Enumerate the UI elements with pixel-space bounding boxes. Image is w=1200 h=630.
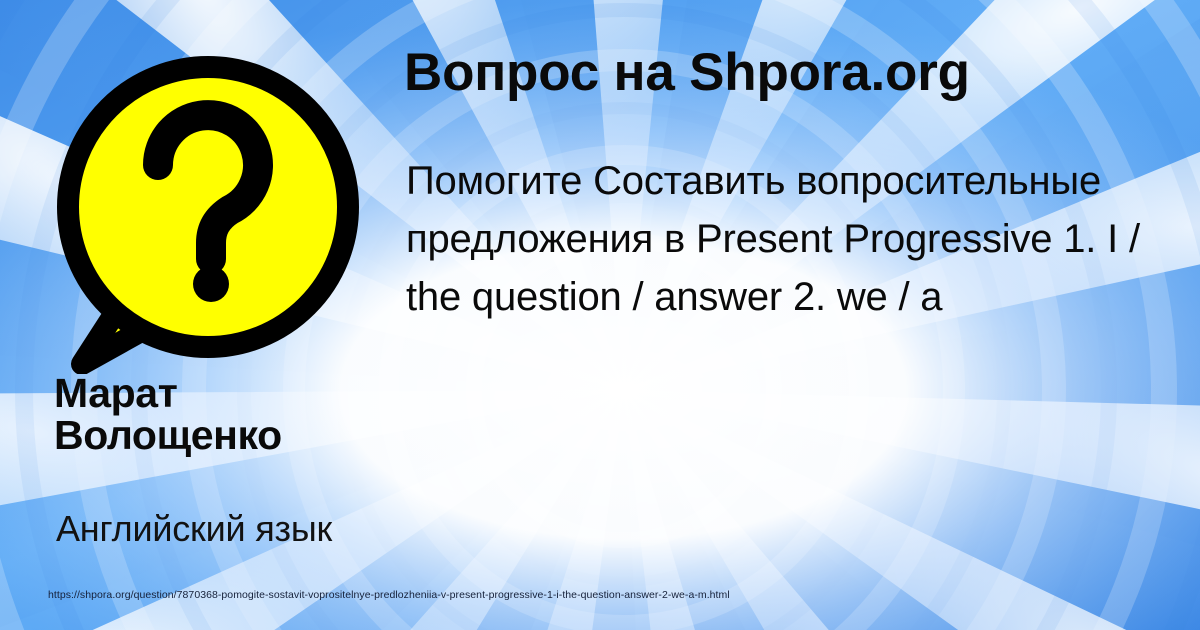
question-mark-dot xyxy=(193,266,229,302)
author-name: Марат Волощенко xyxy=(54,372,404,456)
subject-label: Английский язык xyxy=(56,508,536,550)
share-card: Вопрос на Shpora.org Помогите Составить … xyxy=(0,0,1200,630)
question-text: Помогите Составить вопросительные предло… xyxy=(406,152,1196,326)
page-title: Вопрос на Shpora.org xyxy=(404,44,1184,101)
source-url[interactable]: https://shpora.org/question/7870368-pomo… xyxy=(48,589,1168,601)
question-speech-bubble-icon xyxy=(48,44,368,374)
